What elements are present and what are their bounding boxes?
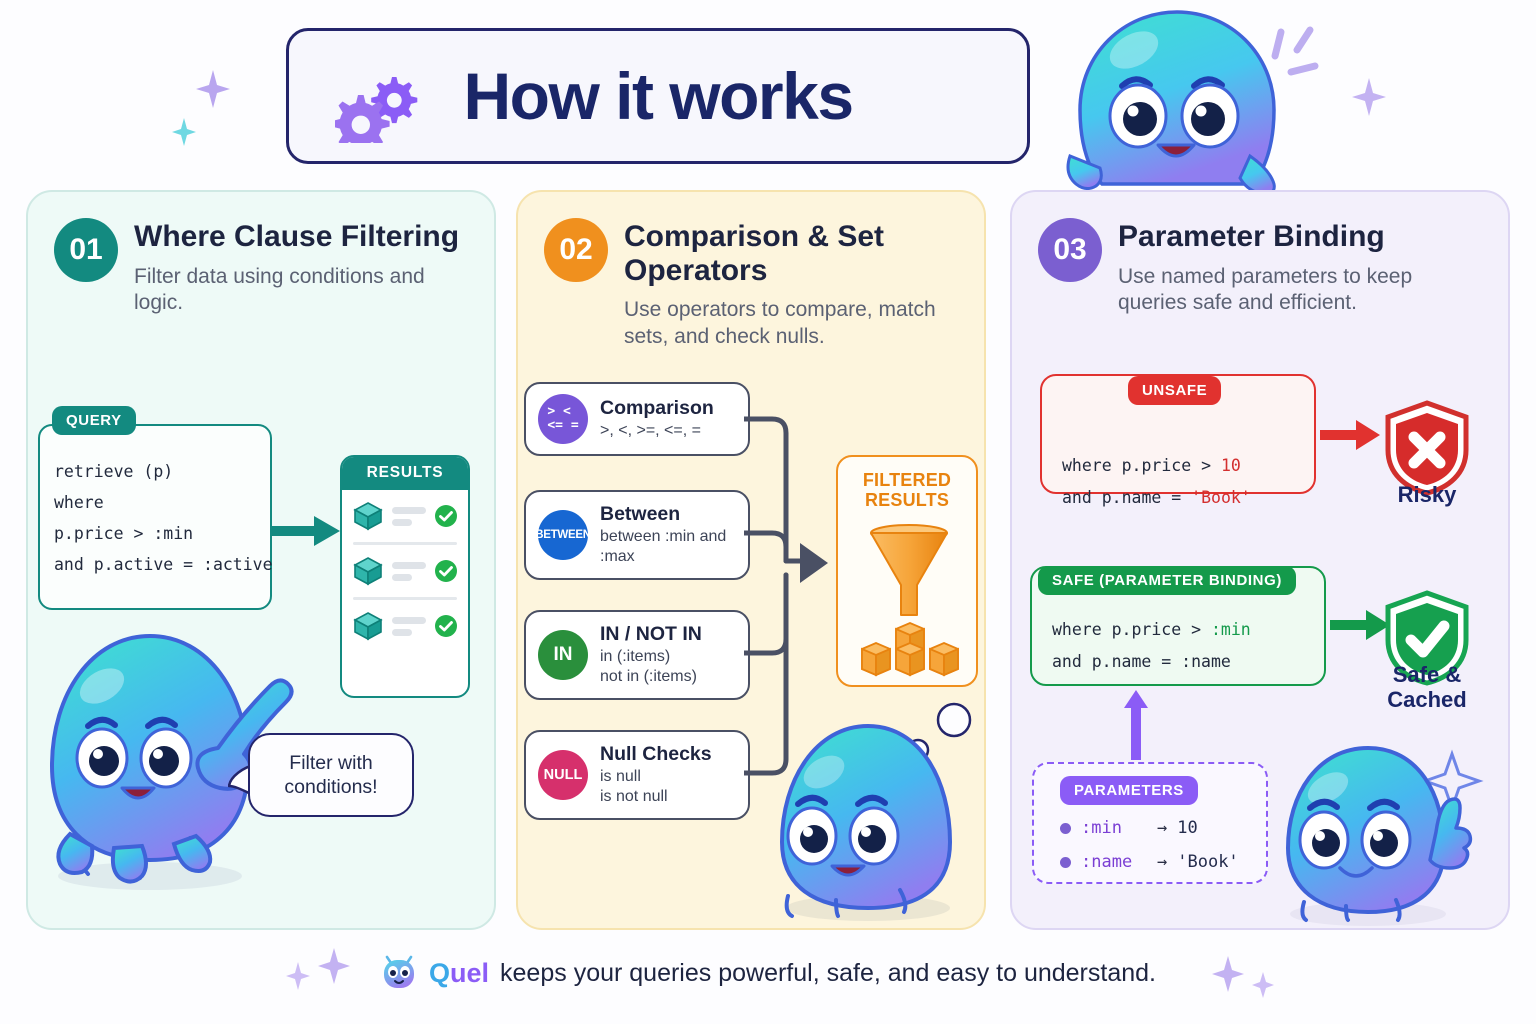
operator-title: IN / NOT IN: [600, 623, 702, 645]
parameter-name: :min: [1081, 818, 1147, 838]
result-row: [342, 490, 468, 542]
safe-param-value: :name: [1181, 652, 1231, 671]
card-1-subtitle: Filter data using conditions and logic.: [134, 264, 468, 318]
safe-code-line-1: where p.price > :min: [1052, 614, 1251, 646]
card-3-header: 03 Parameter Binding Use named parameter…: [1012, 192, 1508, 317]
bubble-line: Filter with: [289, 751, 372, 775]
operator-row-between: BETWEEN Between between :min and :max: [524, 490, 750, 580]
card-1-header: 01 Where Clause Filtering Filter data us…: [28, 192, 494, 317]
arrow-right-icon: →: [1157, 818, 1167, 838]
operator-title: Null Checks: [600, 743, 712, 765]
filtered-results-title: FILTERED RESULTS: [838, 457, 976, 511]
query-to-results-arrow-icon: [272, 512, 342, 555]
quel-mascot-icon: [380, 952, 418, 995]
cube-icon: [353, 611, 383, 641]
in-operator-icon: IN: [538, 630, 588, 680]
query-code-line: where: [54, 487, 273, 518]
footer: Quel keeps your queries powerful, safe, …: [0, 952, 1536, 995]
card-1-title: Where Clause Filtering: [134, 220, 468, 254]
card-2-title: Comparison & Set Operators: [624, 220, 958, 287]
safe-code-line-2: and p.name = :name: [1052, 646, 1251, 678]
parameter-value: 'Book': [1177, 852, 1238, 872]
null-check-icon: NULL: [538, 750, 588, 800]
risky-label: Risky: [1352, 482, 1502, 507]
params-to-safe-arrow-icon: [1122, 690, 1150, 765]
unsafe-code-lines: where p.price > 10 and p.name = 'Book': [1062, 450, 1251, 514]
parameter-value: 10: [1177, 818, 1197, 838]
check-circle-icon: [435, 615, 457, 637]
funnel-icon: [848, 519, 970, 684]
result-row: [342, 545, 468, 597]
operator-desc: in (:items) not in (:items): [600, 647, 702, 687]
parameter-name: :name: [1081, 852, 1147, 872]
mascot-peeking-icon: [1062, 6, 1292, 191]
sparkle-purple-icon: [196, 70, 230, 108]
query-code-lines: retrieve (p) where p.price > :min and p.…: [54, 456, 273, 580]
unsafe-literal-value: 'Book': [1191, 488, 1251, 507]
operator-title: Comparison: [600, 397, 714, 419]
footer-tagline: keeps your queries powerful, safe, and e…: [500, 959, 1156, 988]
parameters-tag-badge: PARAMETERS: [1060, 776, 1198, 805]
parameter-row: :name → 'Book': [1060, 852, 1239, 872]
card-3-title: Parameter Binding: [1118, 220, 1482, 254]
unsafe-literal-value: 10: [1221, 456, 1241, 475]
bullet-dot-icon: [1060, 823, 1071, 834]
bubble-line: conditions!: [284, 775, 377, 799]
gears-icon: [335, 73, 421, 143]
bullet-dot-icon: [1060, 857, 1071, 868]
arrow-right-icon: →: [1157, 852, 1167, 872]
operator-row-null-checks: NULL Null Checks is null is not null: [524, 730, 750, 820]
operator-desc: >, <, >=, <=, =: [600, 421, 714, 441]
comparison-operators-icon: > <<= =: [538, 394, 588, 444]
speech-bubble: Filter with conditions!: [248, 733, 414, 817]
cube-icon: [353, 556, 383, 586]
card-1-number-badge: 01: [54, 218, 118, 282]
query-tag-badge: QUERY: [52, 406, 136, 435]
card-2-subtitle: Use operators to compare, match sets, an…: [624, 297, 958, 351]
unsafe-code-line-2: and p.name = 'Book': [1062, 482, 1251, 514]
filtered-results-panel: FILTERED RESULTS: [836, 455, 978, 687]
operator-desc: between :min and :max: [600, 527, 736, 567]
results-panel: RESULTS: [340, 455, 470, 698]
check-circle-icon: [435, 560, 457, 582]
safe-code-lines: where p.price > :min and p.name = :name: [1052, 614, 1251, 678]
unsafe-tag-badge: UNSAFE: [1128, 376, 1221, 405]
card-2-number-badge: 02: [544, 218, 608, 282]
safe-param-value: :min: [1211, 620, 1251, 639]
operator-desc: is null is not null: [600, 767, 712, 807]
mascot-thinking-icon: [772, 700, 987, 928]
sparkle-teal-icon: [172, 118, 196, 146]
mascot-thumbs-up-icon: [1284, 736, 1496, 932]
parameter-row: :min → 10: [1060, 818, 1198, 838]
safe-tag-badge: SAFE (PARAMETER BINDING): [1038, 566, 1296, 595]
card-2-header: 02 Comparison & Set Operators Use operat…: [518, 192, 984, 351]
operator-row-in-not-in: IN IN / NOT IN in (:items) not in (:item…: [524, 610, 750, 700]
operator-title: Between: [600, 503, 736, 525]
between-icon: BETWEEN: [538, 510, 588, 560]
safe-cached-label: Safe & Cached: [1352, 662, 1502, 713]
query-code-line: p.price > :min: [54, 518, 273, 549]
page-title: How it works: [463, 63, 852, 129]
operator-row-comparison: > <<= = Comparison >, <, >=, <=, =: [524, 382, 750, 456]
header-banner: How it works: [286, 28, 1030, 164]
check-circle-icon: [435, 505, 457, 527]
cube-icon: [353, 501, 383, 531]
card-3-subtitle: Use named parameters to keep queries saf…: [1118, 264, 1482, 318]
query-code-line: retrieve (p): [54, 456, 273, 487]
query-code-line: and p.active = :active: [54, 549, 273, 580]
sparkle-purple-icon: [1352, 78, 1386, 116]
unsafe-code-line-1: where p.price > 10: [1062, 450, 1251, 482]
infographic-page: How it works 01: [0, 0, 1536, 1024]
unsafe-to-risky-arrow-icon: [1320, 418, 1382, 457]
brand-name: Quel: [429, 958, 489, 989]
results-tag-badge: RESULTS: [342, 457, 468, 490]
card-3-number-badge: 03: [1038, 218, 1102, 282]
result-row: [342, 600, 468, 652]
